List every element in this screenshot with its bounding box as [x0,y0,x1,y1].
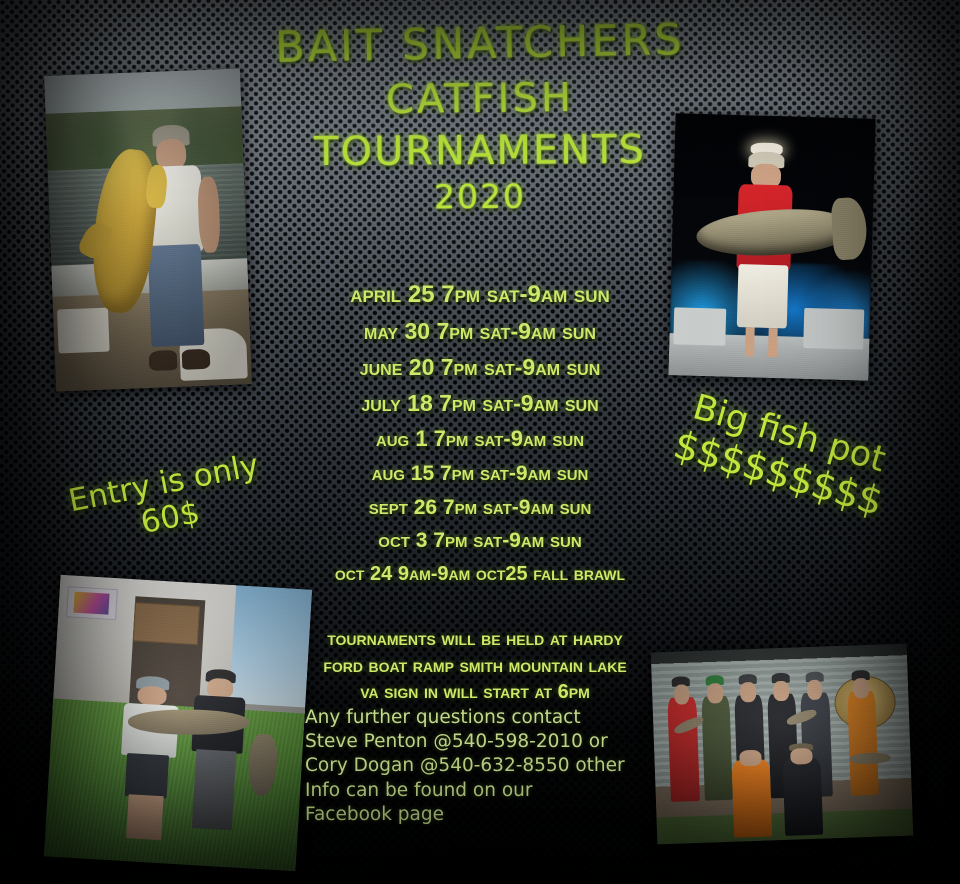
schedule-item: April 25 7pm sat-9am sun [0,283,960,307]
contact-line-steve-penton: Steve Penton @540-598-2010 or [305,730,655,754]
title-year: 2020 [0,177,960,219]
schedule-item: June 20 7pm sat-9am sun [0,356,960,379]
venue-line-1: Tournaments will be held at Hardy [240,626,710,653]
title-line-2: CATFISH [0,73,960,125]
photo-glow [44,575,312,871]
venue-info: Tournaments will be held at Hardy Ford B… [240,626,710,706]
venue-line-3: VA sign in will start at 6pm [240,679,710,706]
poster-title: BAIT SNATCHERS CATFISH TOURNAMENTS 2020 [0,22,960,215]
contact-line-1: Any further questions contact [305,706,655,730]
schedule-item: May 30 7pm sat-9am sun [0,320,960,343]
title-line-3: TOURNAMENTS [0,127,960,176]
contact-line-4: Info can be found on our [305,779,655,803]
contact-line-facebook: Facebook page [305,803,655,827]
contact-info: Any further questions contact Steve Pent… [305,706,655,827]
schedule-item: July 18 7pm sat-9am sun [0,392,960,415]
photo-grass-catch [44,575,312,871]
schedule-item-fall-brawl: Oct 24 9am-9am oct25 fall brawl [0,564,960,584]
title-line-1: BAIT SNATCHERS [0,13,960,77]
venue-line-2: Ford Boat Ramp Smith Mountain Lake [240,653,710,680]
poster-canvas: BAIT SNATCHERS CATFISH TOURNAMENTS 2020 … [0,0,960,884]
contact-line-cory-dogan: Cory Dogan @540-632-8550 other [305,754,655,778]
